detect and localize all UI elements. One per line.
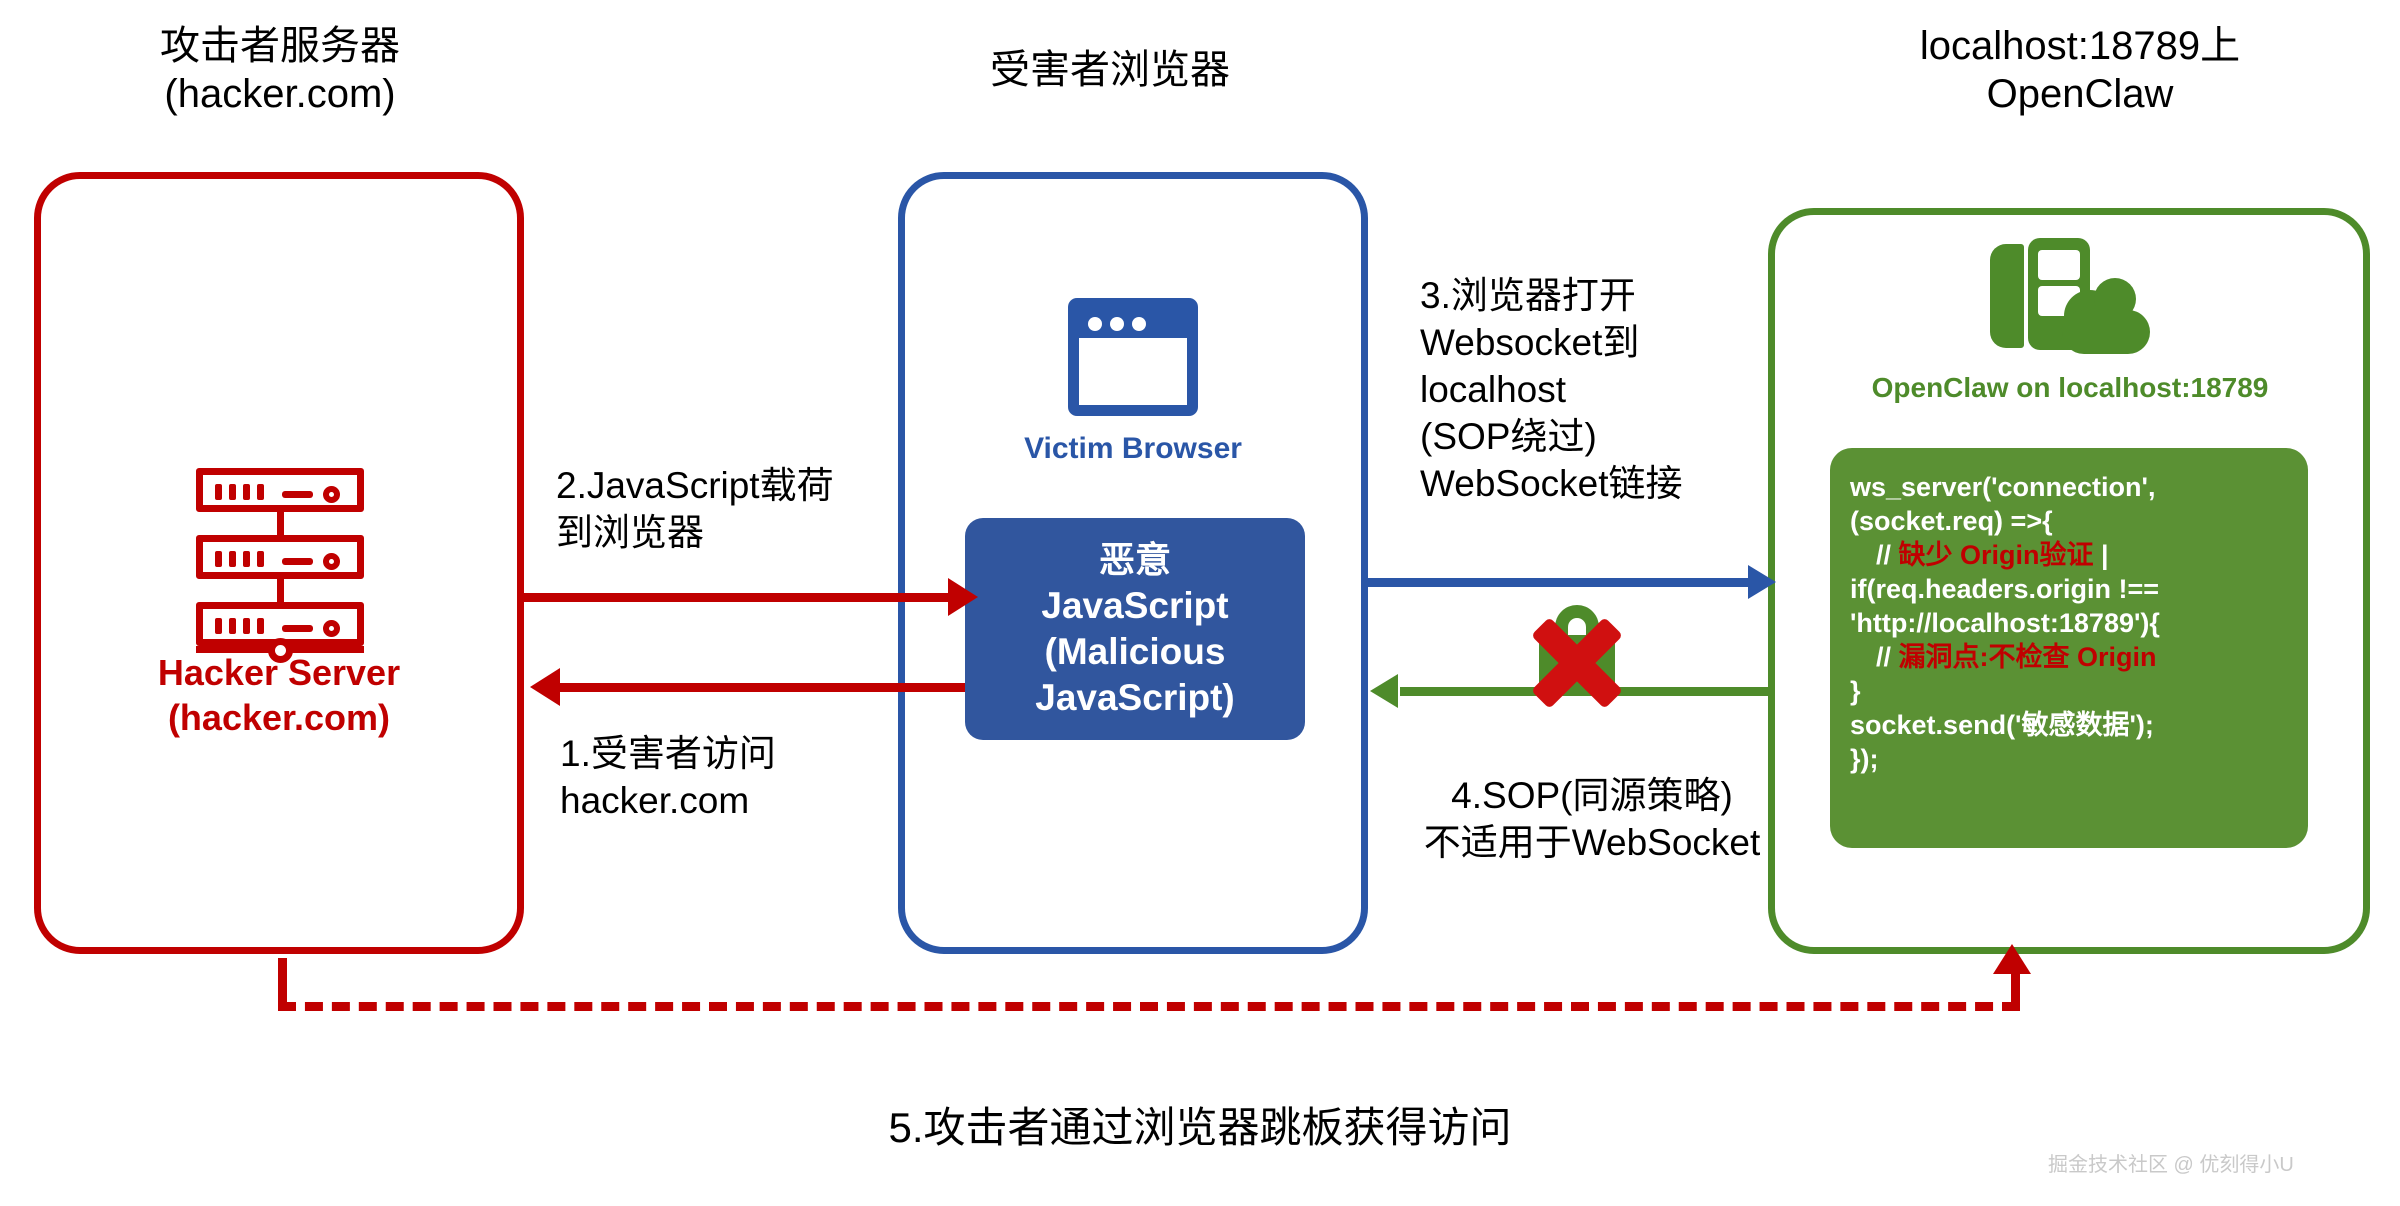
victim-column-title: 受害者浏览器: [880, 46, 1340, 94]
attacker-column-title: 攻击者服务器 (hacker.com): [30, 22, 530, 118]
code-line-5: 'http://localhost:18789'){: [1850, 608, 2160, 638]
malicious-js-line-1: 恶意: [1099, 537, 1171, 583]
code-line-7: }: [1850, 676, 1861, 706]
victim-browser-label: Victim Browser: [948, 432, 1318, 466]
malicious-js-box: 恶意 JavaScript (Malicious JavaScript): [965, 518, 1305, 740]
code-comment-1-tail: |: [2094, 540, 2109, 570]
arrow-websocket-open-head: [1748, 565, 1776, 599]
arrow-js-payload-line: [524, 593, 954, 602]
code-comment-2-slashes: //: [1876, 642, 1899, 672]
code-line-1: ws_server('connection',: [1850, 472, 2155, 502]
blocked-x-icon: [1522, 608, 1632, 718]
bottom-caption: 5.攻击者通过浏览器跳板获得访问: [0, 1094, 2400, 1155]
step-4-label: 4.SOP(同源策略) 不适用于WebSocket: [1382, 772, 1802, 866]
openclaw-cloud-server-icon: [1990, 238, 2150, 356]
step-3-label: 3.浏览器打开 Websocket到 localhost (SOP绕过) Web…: [1420, 272, 1780, 507]
dashed-path-arrow-head: [1993, 944, 2031, 974]
code-comment-2-text: 漏洞点:不检查 Origin: [1899, 642, 2157, 672]
step-1-label: 1.受害者访问 hacker.com: [560, 730, 940, 824]
arrow-websocket-open-line: [1368, 578, 1763, 587]
code-comment-1-slashes: //: [1876, 540, 1899, 570]
arrow-victim-visit-line: [560, 683, 965, 692]
arrow-sop-blocked-head: [1370, 674, 1398, 708]
step-2-label: 2.JavaScript载荷 到浏览器: [556, 462, 916, 556]
dashed-path-right-stub: [2011, 972, 2020, 1008]
code-line-2: (socket.req) =>{: [1850, 506, 2053, 536]
code-comment-1-text: 缺少 Origin验证: [1899, 540, 2094, 570]
watermark: 掘金技术社区 @ 优刻得小U: [2048, 1148, 2294, 1177]
hacker-server-label: Hacker Server (hacker.com): [54, 650, 504, 740]
target-column-title: localhost:18789上 OpenClaw: [1830, 22, 2330, 118]
code-line-9: });: [1850, 744, 1879, 774]
arrow-js-payload-head: [948, 578, 978, 616]
server-rack-icon: [196, 468, 364, 668]
code-line-8: socket.send('敏感数据');: [1850, 710, 2154, 740]
browser-window-icon: [1068, 298, 1198, 416]
dashed-path-left-stub: [278, 958, 287, 1002]
dashed-path-line: [278, 1002, 2020, 1011]
openclaw-host-label: OpenClaw on localhost:18789: [1790, 372, 2350, 404]
malicious-js-line-4: JavaScript): [1035, 675, 1235, 721]
ws-server-code-block: ws_server('connection', (socket.req) =>{…: [1830, 448, 2308, 848]
code-line-4: if(req.headers.origin !==: [1850, 574, 2159, 604]
malicious-js-line-2: JavaScript: [1041, 583, 1228, 629]
diagram-canvas: 攻击者服务器 (hacker.com) 受害者浏览器 localhost:187…: [0, 0, 2400, 1206]
malicious-js-line-3: (Malicious: [1045, 629, 1226, 675]
arrow-victim-visit-head: [530, 668, 560, 706]
